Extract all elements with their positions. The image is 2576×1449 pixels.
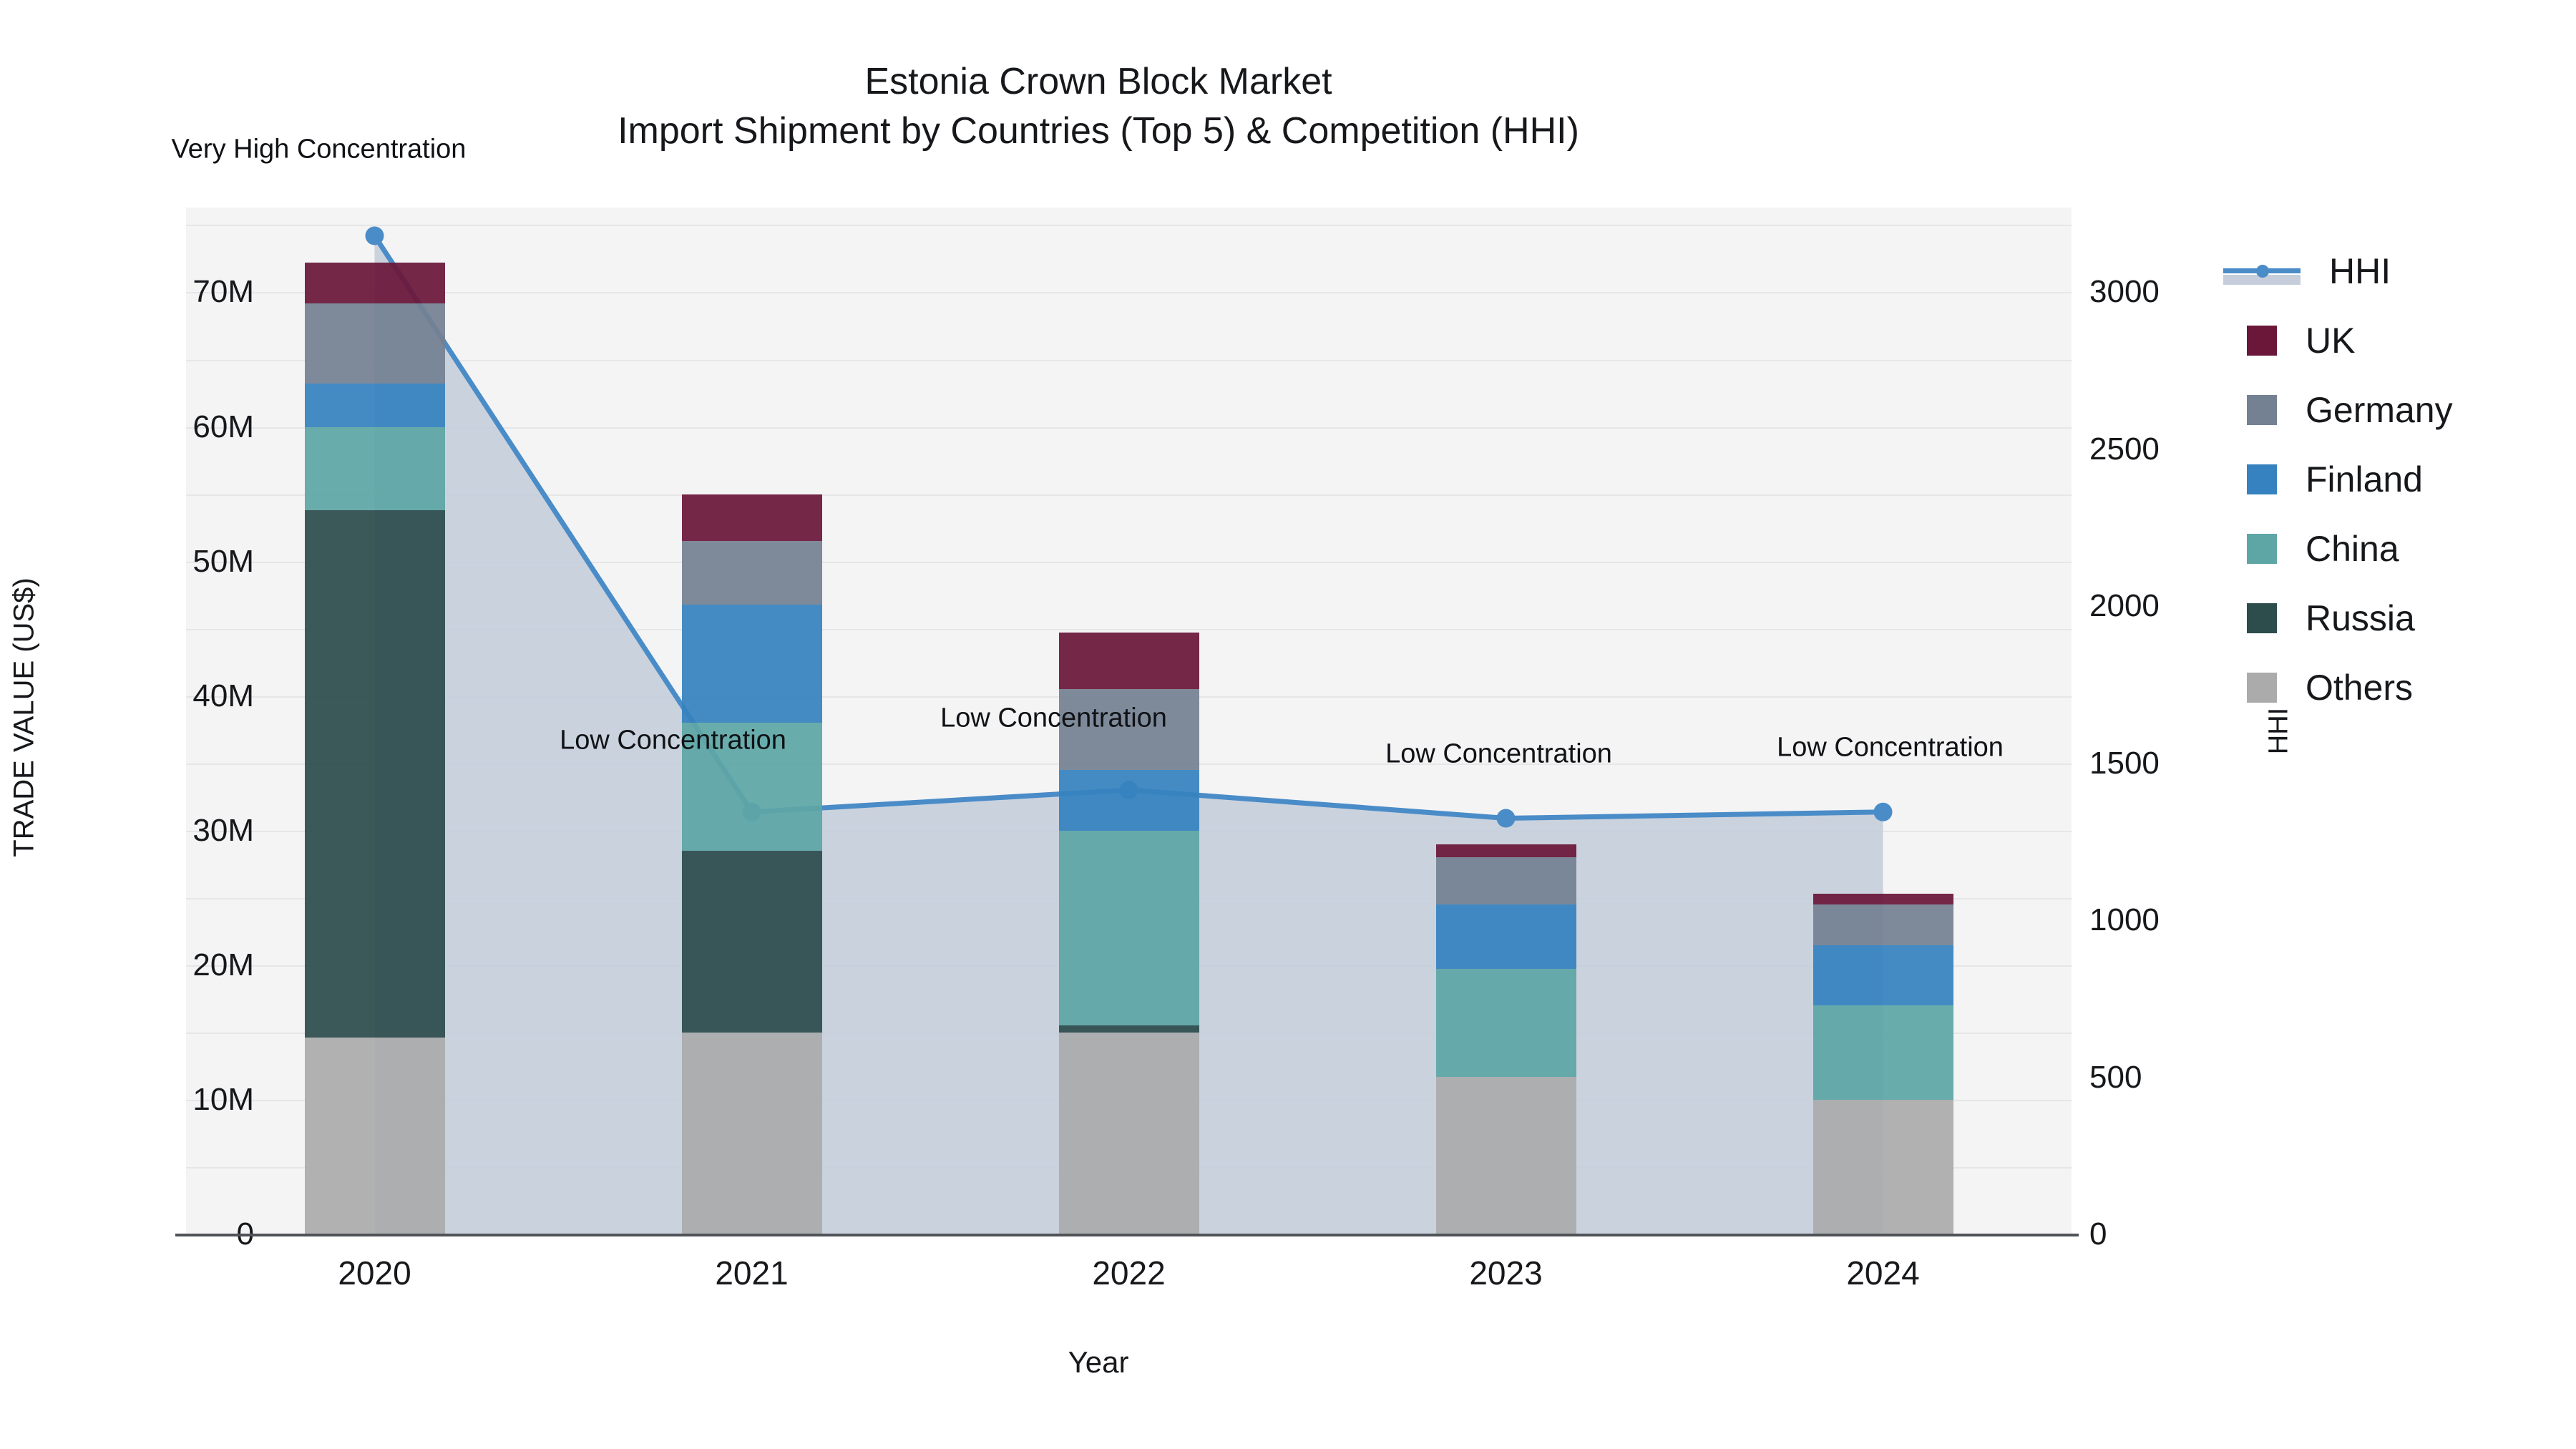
bar-segment-russia[interactable] — [682, 851, 822, 1033]
legend-label: Finland — [2306, 459, 2423, 500]
concentration-annotation: Low Concentration — [1385, 738, 1612, 769]
concentration-annotation: Low Concentration — [560, 725, 786, 756]
bar-segment-uk[interactable] — [305, 263, 445, 303]
x-axis-line — [175, 1234, 2079, 1236]
bar-segment-finland[interactable] — [1059, 770, 1199, 831]
legend-label: Germany — [2306, 389, 2453, 431]
bar-segment-china[interactable] — [305, 427, 445, 511]
legend-item-china[interactable]: China — [2247, 514, 2453, 583]
bar-segment-finland[interactable] — [1813, 945, 1953, 1006]
bar-segment-finland[interactable] — [682, 605, 822, 723]
bar-segment-russia[interactable] — [1059, 1025, 1199, 1032]
bar-segment-china[interactable] — [1436, 969, 1576, 1076]
bar-stack[interactable] — [305, 208, 445, 1234]
bar-segment-others[interactable] — [1813, 1100, 1953, 1234]
bar-segment-uk[interactable] — [682, 494, 822, 542]
bar-segment-china[interactable] — [1813, 1005, 1953, 1100]
bar-segment-uk[interactable] — [1436, 844, 1576, 858]
legend-item-germany[interactable]: Germany — [2247, 375, 2453, 444]
legend-item-uk[interactable]: UK — [2247, 306, 2453, 375]
legend-item-hhi[interactable]: HHI — [2247, 236, 2453, 306]
x-tick-label: 2023 — [1469, 1254, 1542, 1292]
legend-swatch-germany — [2247, 395, 2277, 425]
legend-swatch-finland — [2247, 464, 2277, 494]
bar-segment-germany[interactable] — [682, 541, 822, 604]
x-tick-label: 2020 — [338, 1254, 411, 1292]
bar-segment-germany[interactable] — [1813, 904, 1953, 945]
bar-segment-finland[interactable] — [1436, 904, 1576, 969]
y-tick-label: 60M — [192, 409, 254, 445]
legend-label: HHI — [2329, 250, 2391, 292]
x-axis-label: Year — [0, 1345, 2197, 1380]
y-tick-label: 30M — [192, 813, 254, 849]
legend-swatch-uk — [2247, 326, 2277, 356]
bar-segment-germany[interactable] — [1436, 857, 1576, 904]
bar-segment-uk[interactable] — [1059, 633, 1199, 689]
bar-segment-china[interactable] — [1059, 831, 1199, 1026]
y2-tick-label: 2500 — [2089, 431, 2160, 467]
legend-swatch-others — [2247, 673, 2277, 703]
bar-segment-others[interactable] — [1436, 1077, 1576, 1234]
legend-label: China — [2306, 528, 2399, 570]
y-tick-label: 40M — [192, 678, 254, 714]
chart-legend: HHIUKGermanyFinlandChinaRussiaOthers — [2247, 236, 2453, 722]
x-tick-label: 2024 — [1846, 1254, 1919, 1292]
legend-swatch-russia — [2247, 603, 2277, 633]
bar-stack[interactable] — [682, 208, 822, 1234]
chart-title-line-1: Estonia Crown Block Market — [0, 57, 2197, 107]
legend-label: UK — [2306, 320, 2355, 361]
y2-tick-label: 500 — [2089, 1060, 2142, 1096]
legend-item-finland[interactable]: Finland — [2247, 444, 2453, 514]
concentration-annotation: Low Concentration — [1777, 732, 2004, 763]
x-tick-label: 2022 — [1092, 1254, 1165, 1292]
y-tick-label: 10M — [192, 1082, 254, 1118]
bar-segment-germany[interactable] — [305, 303, 445, 384]
bar-segment-others[interactable] — [682, 1033, 822, 1234]
bar-stack[interactable] — [1813, 208, 1953, 1234]
legend-item-russia[interactable]: Russia — [2247, 583, 2453, 653]
concentration-annotation: Very High Concentration — [172, 135, 467, 165]
legend-swatch-china — [2247, 534, 2277, 564]
bar-segment-uk[interactable] — [1813, 894, 1953, 904]
y-tick-label: 20M — [192, 947, 254, 983]
y2-tick-label: 2000 — [2089, 588, 2160, 624]
bar-segment-russia[interactable] — [305, 510, 445, 1038]
chart-root: Estonia Crown Block Market Import Shipme… — [0, 0, 2576, 1449]
y2-tick-label: 3000 — [2089, 274, 2160, 310]
bar-segment-others[interactable] — [305, 1038, 445, 1234]
x-tick-label: 2021 — [715, 1254, 788, 1292]
y2-tick-label: 0 — [2089, 1216, 2107, 1252]
legend-item-others[interactable]: Others — [2247, 653, 2453, 722]
y-tick-label: 50M — [192, 544, 254, 580]
legend-label: Others — [2306, 667, 2413, 708]
y-axis-label: TRADE VALUE (US$) — [9, 560, 41, 875]
bar-segment-finland[interactable] — [305, 384, 445, 426]
legend-label: Russia — [2306, 597, 2415, 639]
y2-tick-label: 1500 — [2089, 746, 2160, 781]
concentration-annotation: Low Concentration — [940, 703, 1167, 734]
y-tick-label: 70M — [192, 274, 254, 310]
bar-segment-others[interactable] — [1059, 1033, 1199, 1234]
bar-stack[interactable] — [1436, 208, 1576, 1234]
hhi-line-icon — [2223, 256, 2301, 286]
y2-tick-label: 1000 — [2089, 902, 2160, 938]
